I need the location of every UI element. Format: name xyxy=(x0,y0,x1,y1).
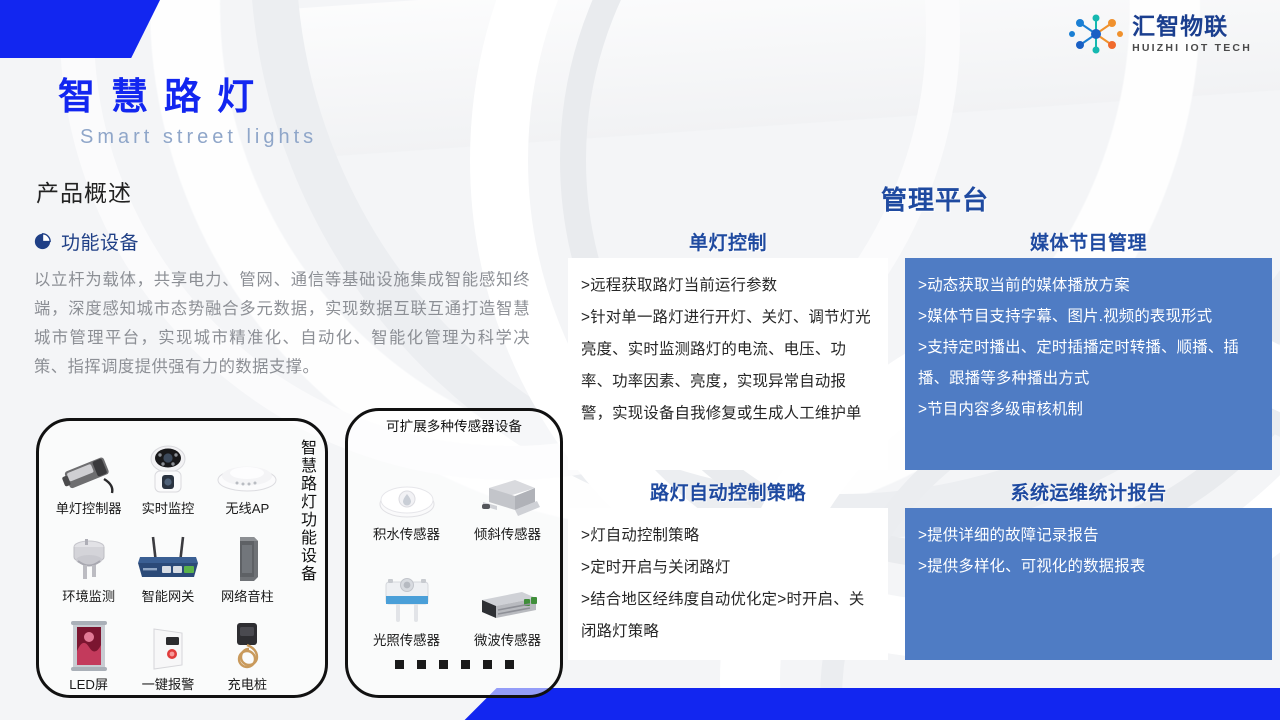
sensor-label: 倾斜传感器 xyxy=(474,523,541,543)
device-item[interactable]: 环境监测 xyxy=(49,517,128,605)
card-line: >媒体节目支持字幕、图片.视频的表现形式 xyxy=(918,301,1259,332)
microwave-sensor-icon xyxy=(474,566,542,626)
wireless-ap-icon xyxy=(215,443,279,495)
device-item[interactable]: 智能网关 xyxy=(128,517,207,605)
dot xyxy=(461,660,470,669)
device-label: LED屏 xyxy=(69,674,108,693)
dot xyxy=(483,660,492,669)
sensor-label: 微波传感器 xyxy=(474,629,541,649)
page-title-en: Smart street lights xyxy=(80,126,317,149)
device-grid: 单灯控制器 实 xyxy=(49,429,287,693)
card-line: >结合地区经纬度自动优化定>时开启、关闭路灯策略 xyxy=(581,584,875,648)
page-title-cn: 智慧路灯 xyxy=(58,66,270,120)
emergency-call-icon xyxy=(146,619,190,671)
led-screen-icon xyxy=(69,619,109,671)
card-body-media-program-management: >动态获取当前的媒体播放方案 >媒体节目支持字幕、图片.视频的表现形式 >支持定… xyxy=(905,258,1272,470)
dot xyxy=(417,660,426,669)
card-title-single-lamp-control: 单灯控制 xyxy=(568,228,888,255)
card-line: >灯自动控制策略 xyxy=(581,520,875,552)
sensor-box-heading: 可扩展多种传感器设备 xyxy=(348,415,560,435)
device-label: 实时监控 xyxy=(142,498,195,517)
card-line: >针对单一路灯进行开灯、关灯、调节灯光亮度、实时监测路灯的电流、电压、功率、功率… xyxy=(581,302,875,430)
device-label: 智能网关 xyxy=(142,586,195,605)
device-label: 充电桩 xyxy=(228,674,268,693)
card-line: >远程获取路灯当前运行参数 xyxy=(581,270,875,302)
device-item[interactable]: 无线AP xyxy=(208,429,287,517)
smart-gateway-icon xyxy=(132,531,204,583)
sensor-item[interactable]: 光照传感器 xyxy=(356,543,457,649)
subsection-label: 功能设备 xyxy=(61,228,139,255)
ptz-camera-icon xyxy=(141,443,195,495)
card-line: >提供详细的故障记录报告 xyxy=(918,520,1259,551)
card-line: >提供多样化、可视化的数据报表 xyxy=(918,551,1259,582)
water-level-sensor-icon xyxy=(376,460,438,520)
dot xyxy=(395,660,404,669)
sensor-label: 光照传感器 xyxy=(373,629,440,649)
device-label: 网络音柱 xyxy=(221,586,274,605)
light-sensor-icon xyxy=(374,566,440,626)
brand-logo: 汇智物联 HUIZHI IOT TECH xyxy=(1069,14,1252,54)
lamp-controller-icon xyxy=(58,443,120,495)
device-label: 一键报警 xyxy=(142,674,195,693)
subsection-functional-devices: 功能设备 xyxy=(34,228,139,255)
card-line: >支持定时播出、定时插播定时转播、顺播、插播、跟播等多种播出方式 xyxy=(918,332,1259,394)
device-item[interactable]: 实时监控 xyxy=(128,429,207,517)
device-label: 无线AP xyxy=(225,498,269,517)
molecule-network-icon xyxy=(1069,14,1123,54)
card-line: >节目内容多级审核机制 xyxy=(918,394,1259,425)
network-speaker-icon xyxy=(232,531,262,583)
device-box-vertical-label: 智慧路灯功能设备 xyxy=(293,439,319,583)
card-body-ops-statistics-report: >提供详细的故障记录报告 >提供多样化、可视化的数据报表 xyxy=(905,508,1272,660)
device-item[interactable]: LED屏 xyxy=(49,605,128,693)
device-item[interactable]: 网络音柱 xyxy=(208,517,287,605)
card-title-ops-statistics-report: 系统运维统计报告 xyxy=(905,478,1272,505)
charging-pile-icon xyxy=(227,619,267,671)
sensor-item[interactable]: 积水传感器 xyxy=(356,437,457,543)
card-line: >定时开启与关闭路灯 xyxy=(581,552,875,584)
overview-paragraph: 以立杆为载体，共享电力、管网、通信等基础设施集成智能感知终端，深度感知城市态势融… xyxy=(34,266,530,382)
device-item[interactable]: 充电桩 xyxy=(208,605,287,693)
device-item[interactable]: 一键报警 xyxy=(128,605,207,693)
device-label: 环境监测 xyxy=(62,586,115,605)
pie-chart-icon xyxy=(34,233,51,250)
dot xyxy=(439,660,448,669)
sensor-more-dots xyxy=(348,660,560,669)
tilt-sensor-icon xyxy=(475,460,541,520)
device-box-functional: 单灯控制器 实 xyxy=(36,418,328,698)
logo-brand-cn: 汇智物联 xyxy=(1132,15,1252,38)
sensor-grid: 积水传感器 倾斜传感器 xyxy=(356,437,558,649)
card-body-single-lamp-control: >远程获取路灯当前运行参数 >针对单一路灯进行开灯、关灯、调节灯光亮度、实时监测… xyxy=(568,258,888,470)
sensor-item[interactable]: 倾斜传感器 xyxy=(457,437,558,543)
card-body-auto-control-strategy: >灯自动控制策略 >定时开启与关闭路灯 >结合地区经纬度自动优化定>时开启、关闭… xyxy=(568,508,888,660)
device-box-sensors: 可扩展多种传感器设备 积水传感器 xyxy=(345,408,563,698)
card-line: >动态获取当前的媒体播放方案 xyxy=(918,270,1259,301)
environment-sensor-icon xyxy=(64,531,114,583)
dot xyxy=(505,660,514,669)
slide-root: 汇智物联 HUIZHI IOT TECH 智慧路灯 Smart street l… xyxy=(0,0,1280,720)
sensor-item[interactable]: 微波传感器 xyxy=(457,543,558,649)
card-title-media-program-management: 媒体节目管理 xyxy=(905,228,1272,255)
device-item[interactable]: 单灯控制器 xyxy=(49,429,128,517)
platform-title: 管理平台 xyxy=(0,180,1280,217)
device-label: 单灯控制器 xyxy=(56,498,122,517)
logo-brand-en: HUIZHI IOT TECH xyxy=(1132,43,1252,54)
card-title-auto-control-strategy: 路灯自动控制策略 xyxy=(568,478,888,505)
sensor-label: 积水传感器 xyxy=(373,523,440,543)
